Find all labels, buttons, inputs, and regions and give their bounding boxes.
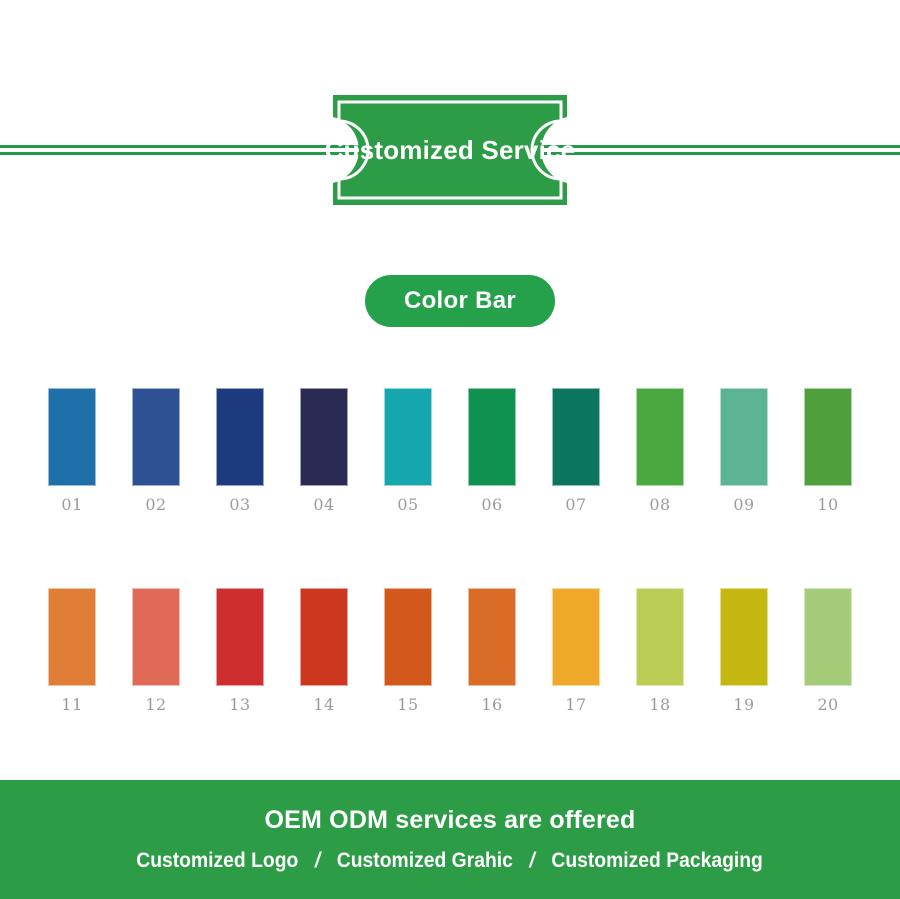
color-swatch-label: 11 <box>61 695 82 714</box>
color-swatch-cell[interactable]: 11 <box>48 588 96 714</box>
color-swatch-label: 15 <box>397 695 418 714</box>
color-swatch-label: 20 <box>817 695 838 714</box>
color-swatch-cell[interactable]: 09 <box>720 388 768 514</box>
color-swatch-cell[interactable]: 14 <box>300 588 348 714</box>
color-swatch-chip[interactable] <box>720 388 768 486</box>
page-title: Customized Service <box>305 95 595 205</box>
color-swatch-cell[interactable]: 15 <box>384 588 432 714</box>
color-swatch-cell[interactable]: 18 <box>636 588 684 714</box>
color-swatch-chip[interactable] <box>132 588 180 686</box>
color-swatch-chip[interactable] <box>384 588 432 686</box>
color-swatch-chip[interactable] <box>300 588 348 686</box>
color-swatch-chip[interactable] <box>468 588 516 686</box>
color-swatch-chip[interactable] <box>804 588 852 686</box>
color-swatch-chip[interactable] <box>804 388 852 486</box>
footer-service-separator: / <box>315 849 320 873</box>
color-swatch-label: 17 <box>565 695 586 714</box>
color-swatch-chip[interactable] <box>720 588 768 686</box>
color-swatch-chip[interactable] <box>48 588 96 686</box>
color-swatch-chip[interactable] <box>468 388 516 486</box>
color-swatch-label: 18 <box>649 695 670 714</box>
color-swatch-cell[interactable]: 13 <box>216 588 264 714</box>
color-swatch-label: 04 <box>313 495 334 514</box>
footer-service-item: Customized Grahic <box>337 849 513 873</box>
color-swatch-chip[interactable] <box>216 388 264 486</box>
color-swatch-label: 07 <box>565 495 586 514</box>
footer-service-separator: / <box>530 849 535 873</box>
color-swatch-cell[interactable]: 10 <box>804 388 852 514</box>
color-swatch-chip[interactable] <box>552 588 600 686</box>
color-swatch-label: 10 <box>817 495 838 514</box>
color-swatch-chip[interactable] <box>552 388 600 486</box>
color-swatch-chip[interactable] <box>132 388 180 486</box>
color-swatch-label: 05 <box>397 495 418 514</box>
color-swatch-chip[interactable] <box>300 388 348 486</box>
color-swatch-label: 08 <box>649 495 670 514</box>
footer-banner: OEM ODM services are offered Customized … <box>0 780 900 899</box>
color-swatch-label: 16 <box>481 695 502 714</box>
color-swatch-label: 19 <box>733 695 754 714</box>
color-swatch-cell[interactable]: 12 <box>132 588 180 714</box>
color-swatch-chip[interactable] <box>216 588 264 686</box>
color-swatch-cell[interactable]: 06 <box>468 388 516 514</box>
color-swatch-chip[interactable] <box>636 388 684 486</box>
color-swatch-cell[interactable]: 19 <box>720 588 768 714</box>
color-swatch-cell[interactable]: 05 <box>384 388 432 514</box>
color-swatch-chip[interactable] <box>48 388 96 486</box>
color-swatch-chip[interactable] <box>636 588 684 686</box>
color-swatch-cell[interactable]: 17 <box>552 588 600 714</box>
color-swatch-cell[interactable]: 03 <box>216 388 264 514</box>
color-swatch-cell[interactable]: 04 <box>300 388 348 514</box>
color-swatch-row-1: 01020304050607080910 <box>48 388 858 514</box>
color-swatch-label: 09 <box>733 495 754 514</box>
color-swatch-label: 02 <box>145 495 166 514</box>
color-swatch-cell[interactable]: 07 <box>552 388 600 514</box>
color-bar-section-pill: Color Bar <box>365 275 555 327</box>
color-swatch-label: 06 <box>481 495 502 514</box>
color-swatch-label: 03 <box>229 495 250 514</box>
color-swatch-label: 13 <box>229 695 250 714</box>
color-bar-section-label: Color Bar <box>404 287 516 315</box>
color-swatch-cell[interactable]: 01 <box>48 388 96 514</box>
color-swatch-cell[interactable]: 08 <box>636 388 684 514</box>
color-swatch-cell[interactable]: 20 <box>804 588 852 714</box>
color-swatch-cell[interactable]: 02 <box>132 388 180 514</box>
footer-service-item: Customized Logo <box>137 849 299 873</box>
footer-services-list: Customized Logo/Customized Grahic/Custom… <box>137 849 764 873</box>
color-swatch-row-2: 11121314151617181920 <box>48 588 858 714</box>
header-banner: Customized Service <box>0 100 900 200</box>
color-swatch-label: 12 <box>145 695 166 714</box>
footer-headline: OEM ODM services are offered <box>264 806 635 835</box>
color-swatch-label: 14 <box>313 695 334 714</box>
color-swatch-label: 01 <box>61 495 82 514</box>
footer-service-item: Customized Packaging <box>552 849 763 873</box>
color-swatch-chip[interactable] <box>384 388 432 486</box>
color-swatch-cell[interactable]: 16 <box>468 588 516 714</box>
